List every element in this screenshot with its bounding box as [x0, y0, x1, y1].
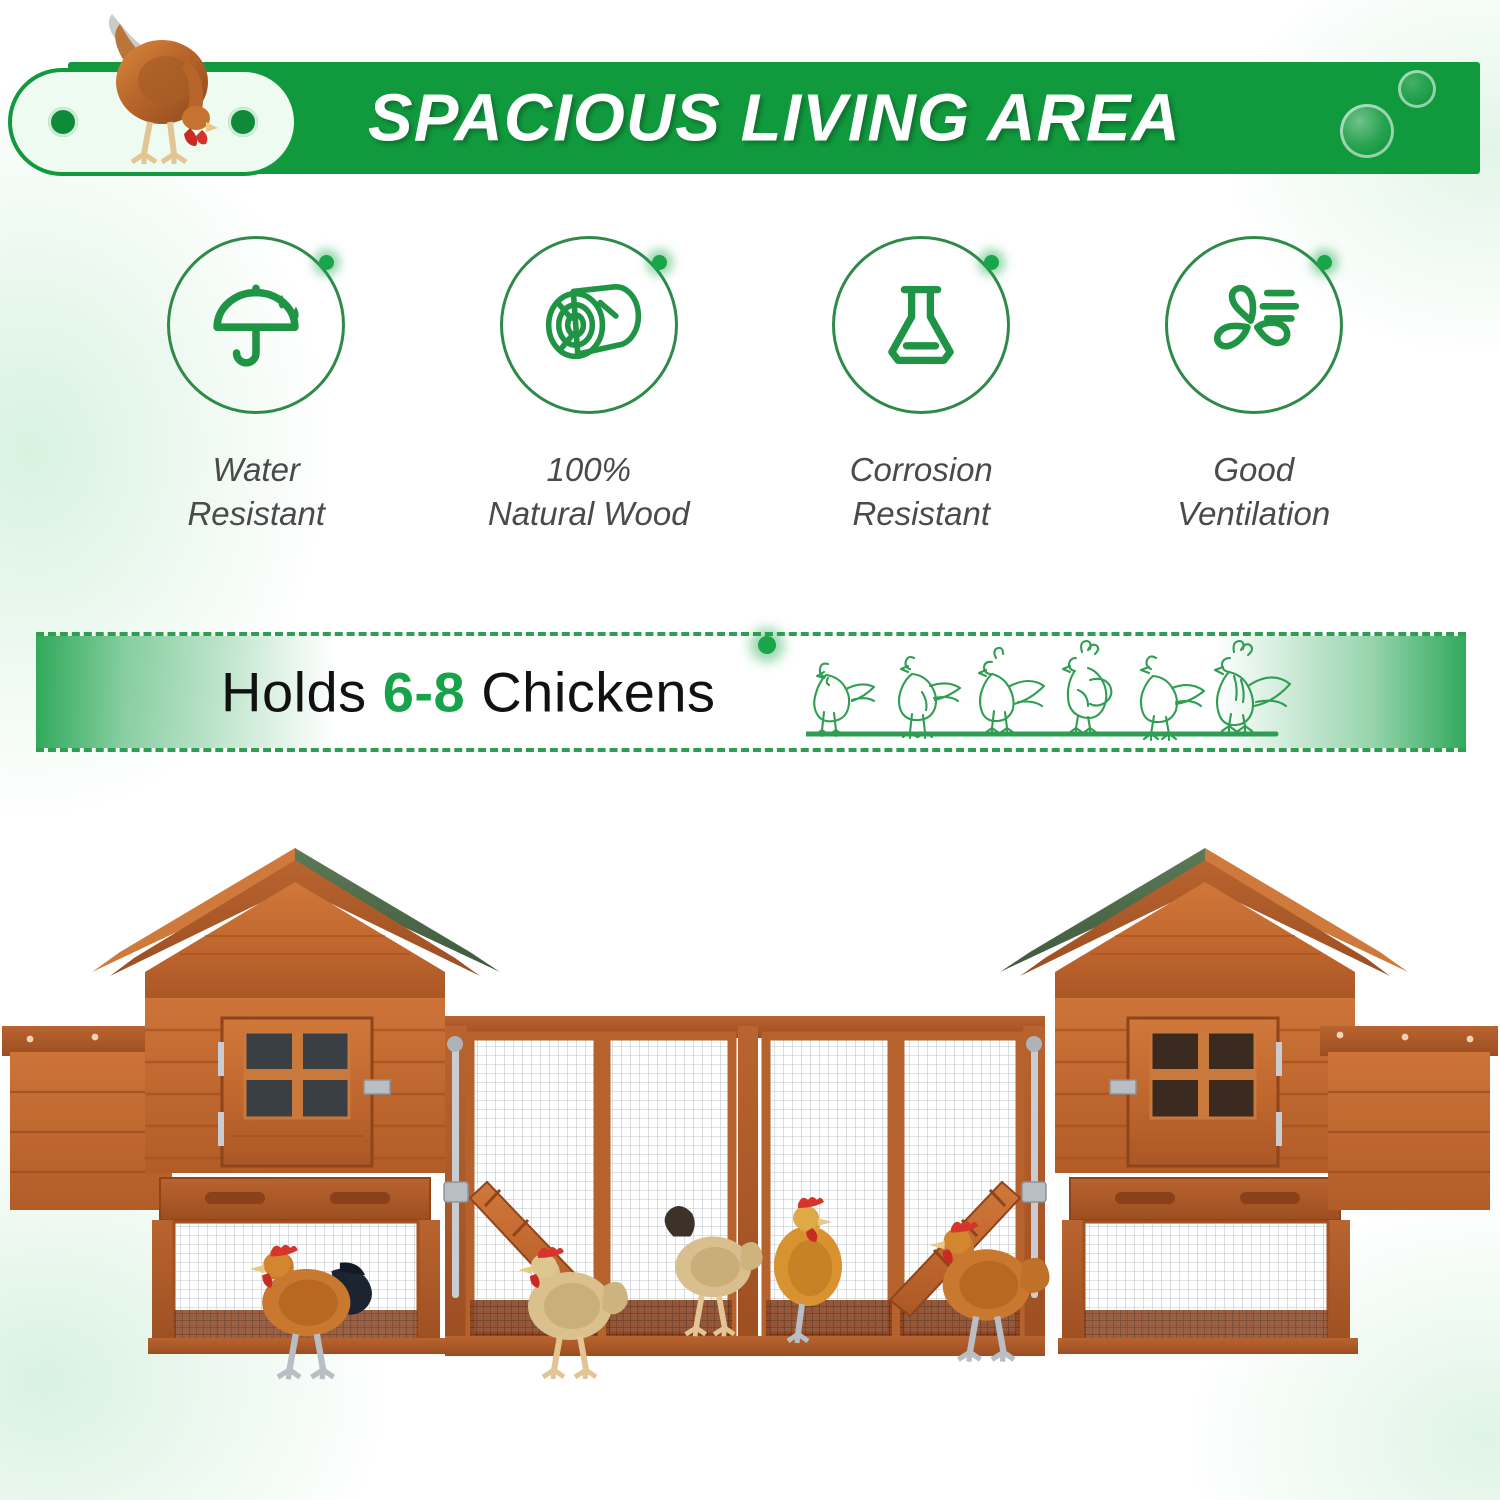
- feature-item-corrosion-resistant: Corrosion Resistant: [755, 236, 1088, 546]
- feature-item-good-ventilation: Good Ventilation: [1088, 236, 1421, 546]
- header-hen-photo: [78, 0, 248, 176]
- pill-ring-left-icon: [48, 107, 78, 137]
- feature-icon-circle: [832, 236, 1010, 414]
- chicken-flock-illustration: [806, 636, 1306, 748]
- capacity-suffix: Chickens: [465, 661, 715, 724]
- capacity-prefix: Holds: [221, 661, 383, 724]
- feature-label: Corrosion Resistant: [850, 448, 993, 536]
- feature-label: Good Ventilation: [1177, 448, 1330, 536]
- feature-icon-circle: [1165, 236, 1343, 414]
- wood-log-rings-icon: [533, 269, 645, 381]
- umbrella-raindrop-icon: [202, 271, 310, 379]
- bubble-small-icon: [1398, 70, 1436, 108]
- infographic-page: SPACIOUS LIVING AREA: [0, 0, 1500, 1500]
- accent-dot-icon: [984, 255, 999, 270]
- feature-icon-circle: [167, 236, 345, 414]
- feature-item-natural-wood: 100% Natural Wood: [423, 236, 756, 546]
- accent-dot-icon: [1317, 255, 1332, 270]
- feature-icon-circle: [500, 236, 678, 414]
- feature-list: Water Resistant 100% Natural: [90, 236, 1420, 546]
- product-photo-chicken-coop: [0, 830, 1500, 1470]
- flask-icon: [869, 273, 973, 377]
- fan-airflow-icon: [1199, 270, 1309, 380]
- accent-dot-icon: [319, 255, 334, 270]
- accent-dot-icon: [758, 636, 776, 654]
- capacity-count: 6-8: [383, 661, 465, 724]
- right-nesting-box: [1320, 1026, 1498, 1210]
- page-title: SPACIOUS LIVING AREA: [368, 80, 1181, 157]
- capacity-banner: Holds 6-8 Chickens: [36, 632, 1466, 752]
- accent-dot-icon: [652, 255, 667, 270]
- feature-label: Water Resistant: [187, 448, 325, 536]
- feature-label: 100% Natural Wood: [488, 448, 690, 536]
- capacity-text: Holds 6-8 Chickens: [221, 660, 716, 725]
- bubble-large-icon: [1340, 104, 1394, 158]
- feature-item-water-resistant: Water Resistant: [90, 236, 423, 546]
